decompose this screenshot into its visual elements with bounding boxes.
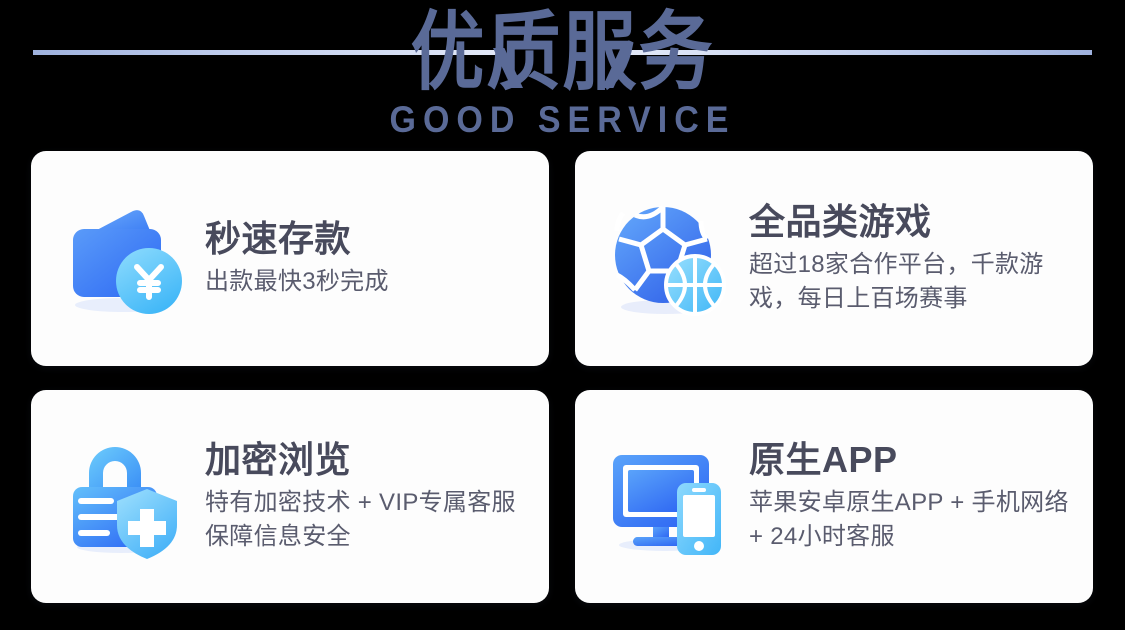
page-subtitle: GOOD SERVICE bbox=[0, 99, 1125, 142]
soccer-basketball-icon bbox=[605, 195, 733, 323]
feature-card-native-app[interactable]: 原生APP 苹果安卓原生APP + 手机网络 + 24小时客服 bbox=[575, 390, 1093, 603]
feature-card-deposit[interactable]: 秒速存款 出款最快3秒完成 bbox=[31, 151, 549, 366]
feature-card-encryption[interactable]: 加密浏览 特有加密技术 + VIP专属客服保障信息安全 bbox=[31, 390, 549, 603]
card-description: 苹果安卓原生APP + 手机网络 + 24小时客服 bbox=[749, 486, 1083, 554]
card-text-block: 加密浏览 特有加密技术 + VIP专属客服保障信息安全 bbox=[205, 439, 549, 554]
card-text-block: 原生APP 苹果安卓原生APP + 手机网络 + 24小时客服 bbox=[749, 439, 1093, 554]
card-text-block: 全品类游戏 超过18家合作平台，千款游戏，每日上百场赛事 bbox=[749, 201, 1093, 316]
card-description: 出款最快3秒完成 bbox=[205, 265, 539, 299]
page-header: 优质服务 GOOD SERVICE bbox=[0, 0, 1125, 150]
lock-shield-icon bbox=[61, 433, 189, 561]
card-title: 加密浏览 bbox=[205, 439, 539, 480]
card-title: 秒速存款 bbox=[205, 218, 539, 259]
monitor-phone-icon bbox=[605, 433, 733, 561]
card-title: 原生APP bbox=[749, 439, 1083, 480]
feature-card-games[interactable]: 全品类游戏 超过18家合作平台，千款游戏，每日上百场赛事 bbox=[575, 151, 1093, 366]
card-description: 超过18家合作平台，千款游戏，每日上百场赛事 bbox=[749, 248, 1083, 316]
wallet-yuan-icon bbox=[61, 195, 189, 323]
card-title: 全品类游戏 bbox=[749, 201, 1083, 242]
card-text-block: 秒速存款 出款最快3秒完成 bbox=[205, 218, 549, 298]
feature-card-grid: 秒速存款 出款最快3秒完成 bbox=[31, 151, 1094, 603]
card-description: 特有加密技术 + VIP专属客服保障信息安全 bbox=[205, 486, 539, 554]
page-title: 优质服务 bbox=[0, 6, 1125, 100]
